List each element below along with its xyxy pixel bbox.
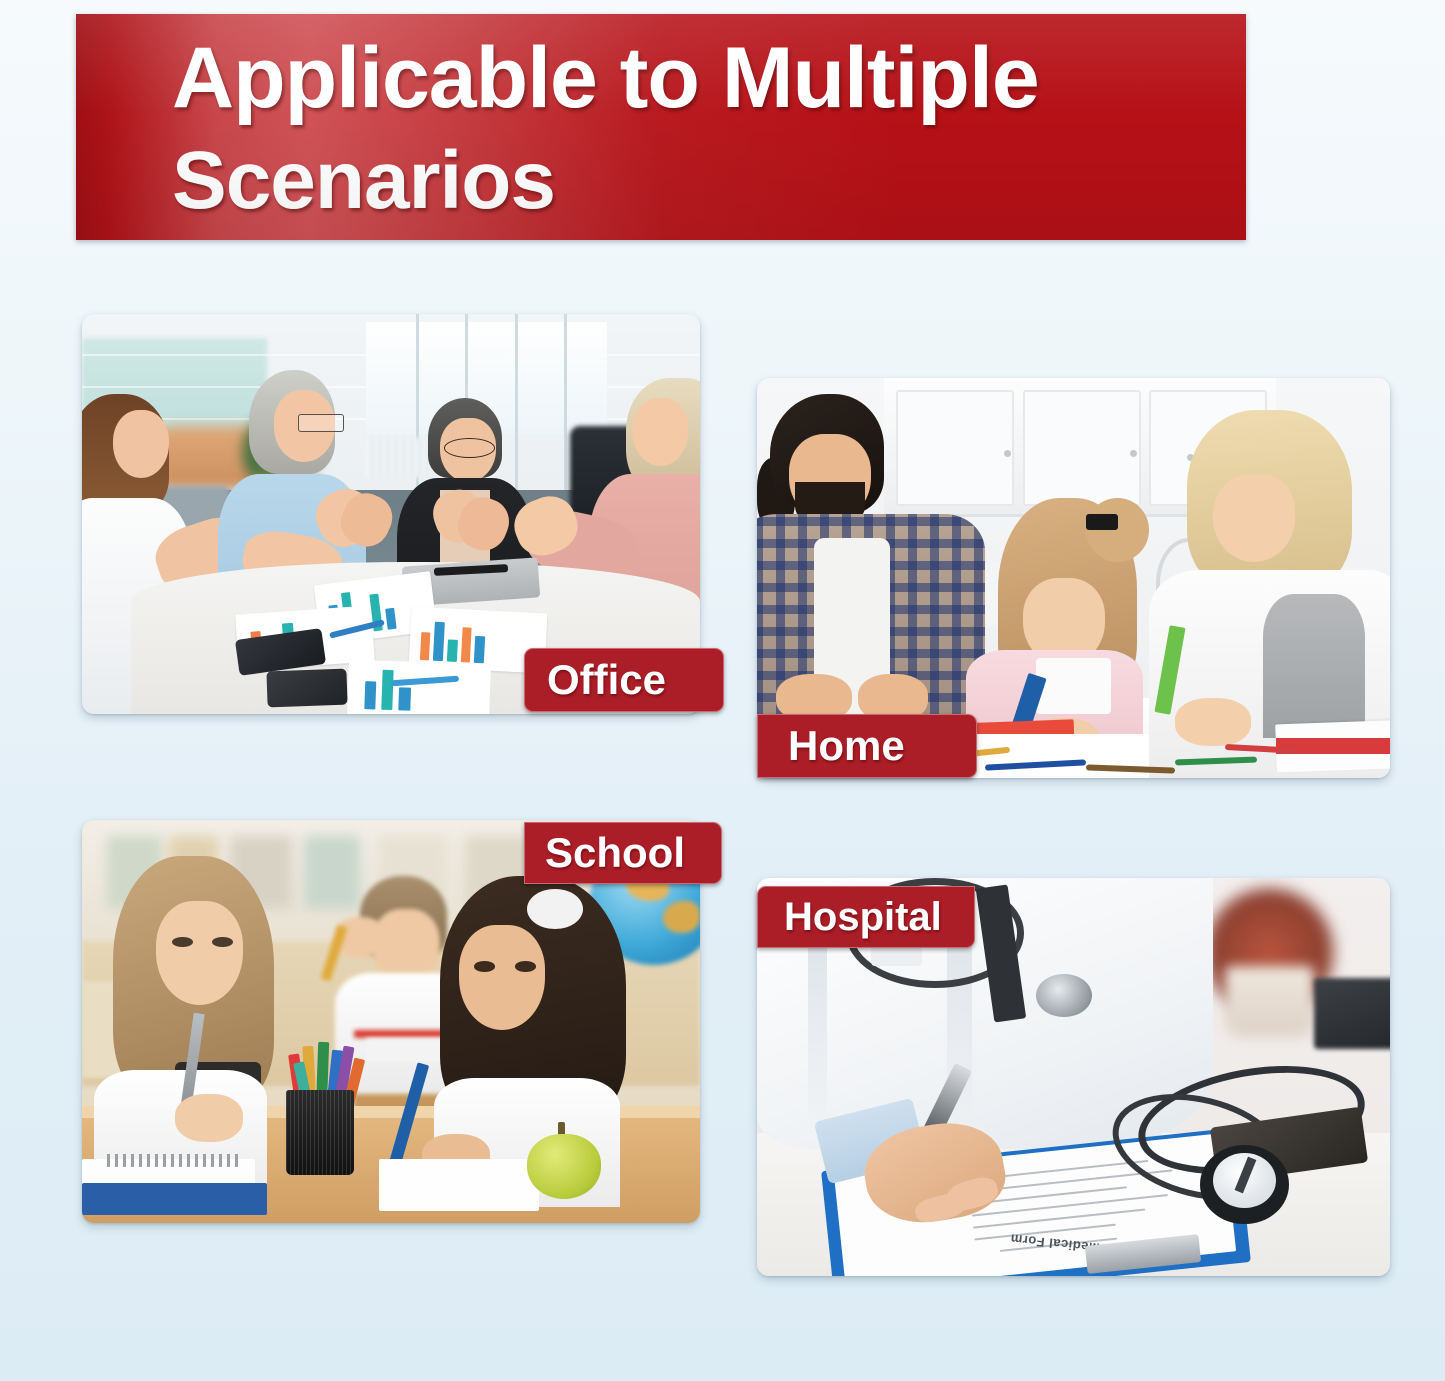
- badge-office-label: Office: [547, 656, 666, 704]
- badge-office: Office: [524, 648, 724, 712]
- header-banner: Applicable to Multiple Scenarios: [76, 14, 1246, 240]
- banner-title-line-2: Scenarios: [172, 133, 555, 229]
- badge-home-label: Home: [788, 722, 905, 770]
- banner-title-line-1: Applicable to Multiple: [172, 28, 1039, 128]
- badge-school-label: School: [545, 829, 685, 877]
- badge-home: Home: [757, 714, 977, 778]
- badge-school: School: [524, 822, 722, 884]
- badge-hospital: Hospital: [757, 886, 975, 948]
- badge-hospital-label: Hospital: [784, 895, 942, 940]
